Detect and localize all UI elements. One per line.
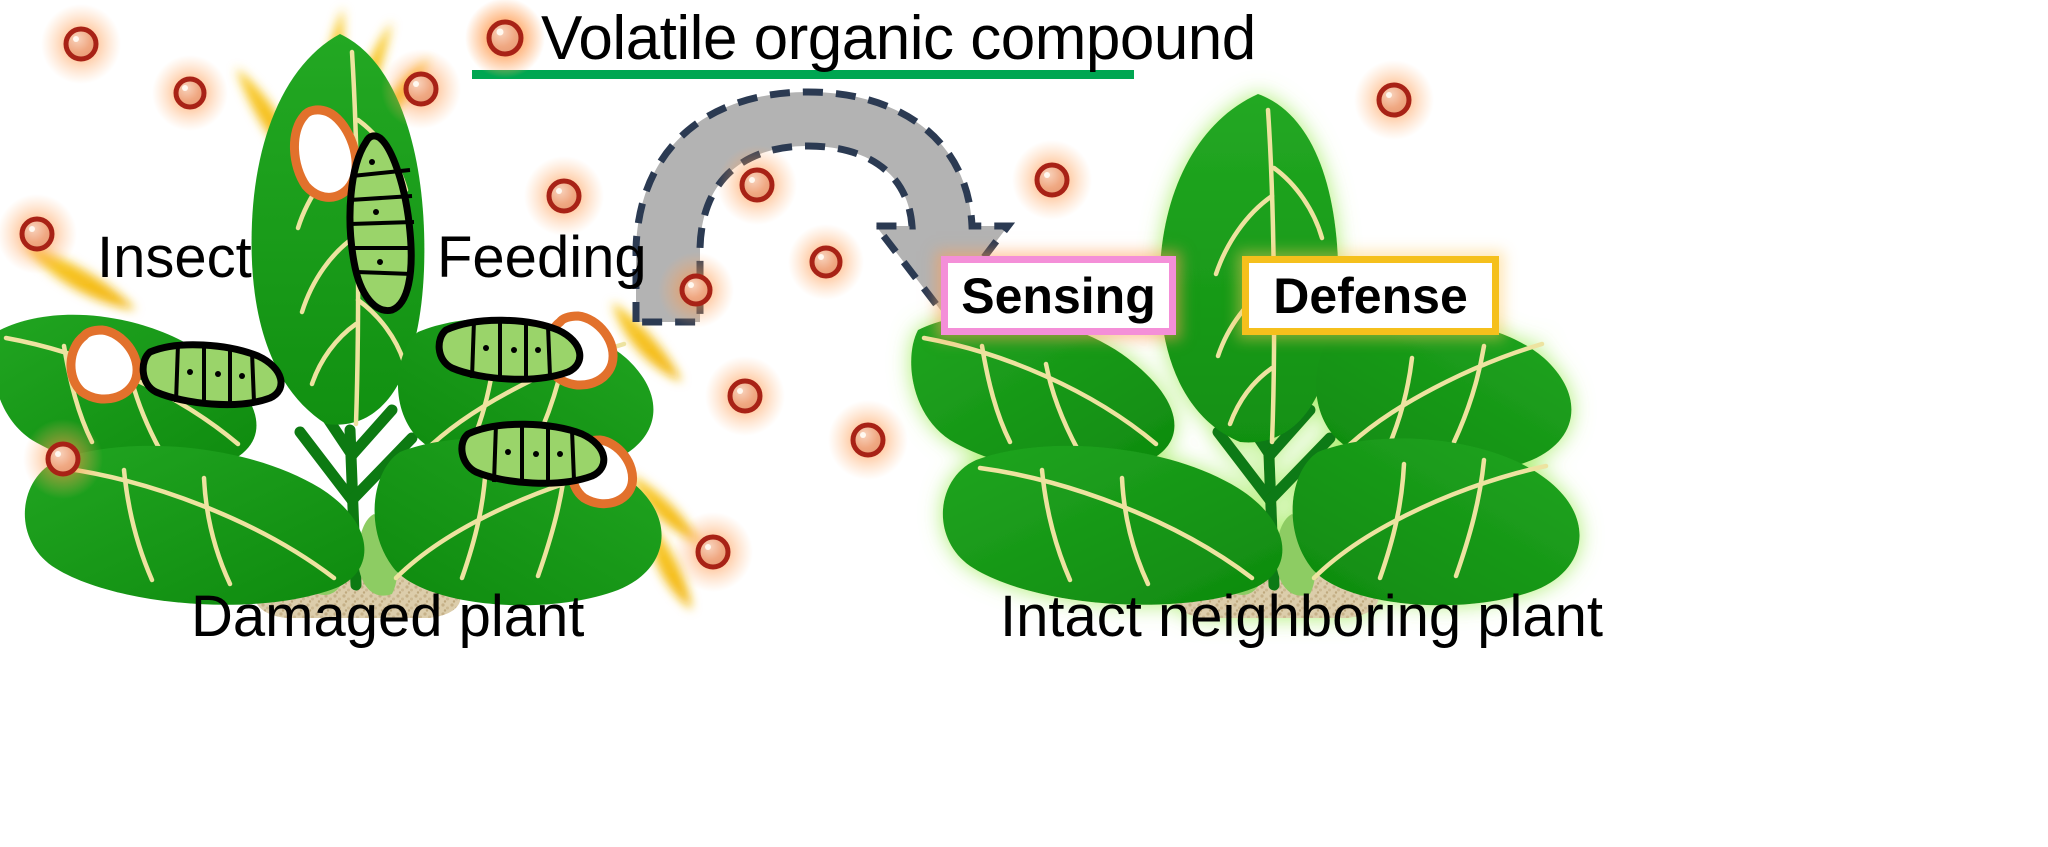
damaged-plant [0,8,700,618]
leaf-hole [294,110,356,197]
voc-particle-icon [828,400,908,480]
voc-particle-icon [0,194,77,274]
legend-voc-marker-icon [465,0,545,78]
voc-particle-icon [1012,140,1092,220]
voc-particle-icon [1354,60,1434,140]
voc-particle-icon [658,252,734,328]
voc-particle-icon [788,224,864,300]
caterpillar-2 [143,344,281,406]
voc-particle-icon [705,356,785,436]
leaf-hole [71,330,137,399]
insect-label: Insect [97,229,252,287]
voc-particle-icon [41,4,121,84]
voc-particle-icon [524,156,604,236]
sensing-box: Sensing [941,256,1176,335]
diagram-graphics [0,0,2048,847]
intact-plant [911,94,1579,618]
legend-label: Volatile organic compound [541,8,1256,70]
caterpillar-4 [462,422,604,484]
damaged-plant-caption: Damaged plant [191,588,584,646]
voc-particle-icon [23,419,103,499]
voc-particle-icon [717,145,797,225]
intact-plant-caption: Intact neighboring plant [1000,588,1603,646]
leaf-right-plant-left-bottom [943,446,1283,605]
voc-particle-icon [152,55,228,131]
voc-particle-icon [381,49,461,129]
leaf-right-plant-right-bottom [1293,438,1580,605]
voc-particle-icon [673,512,753,592]
diagram-canvas: Volatile organic compound Insect Feeding… [0,0,2048,847]
feeding-label: Feeding [437,229,647,287]
defense-box: Defense [1242,256,1499,335]
caterpillar-3 [439,318,580,380]
